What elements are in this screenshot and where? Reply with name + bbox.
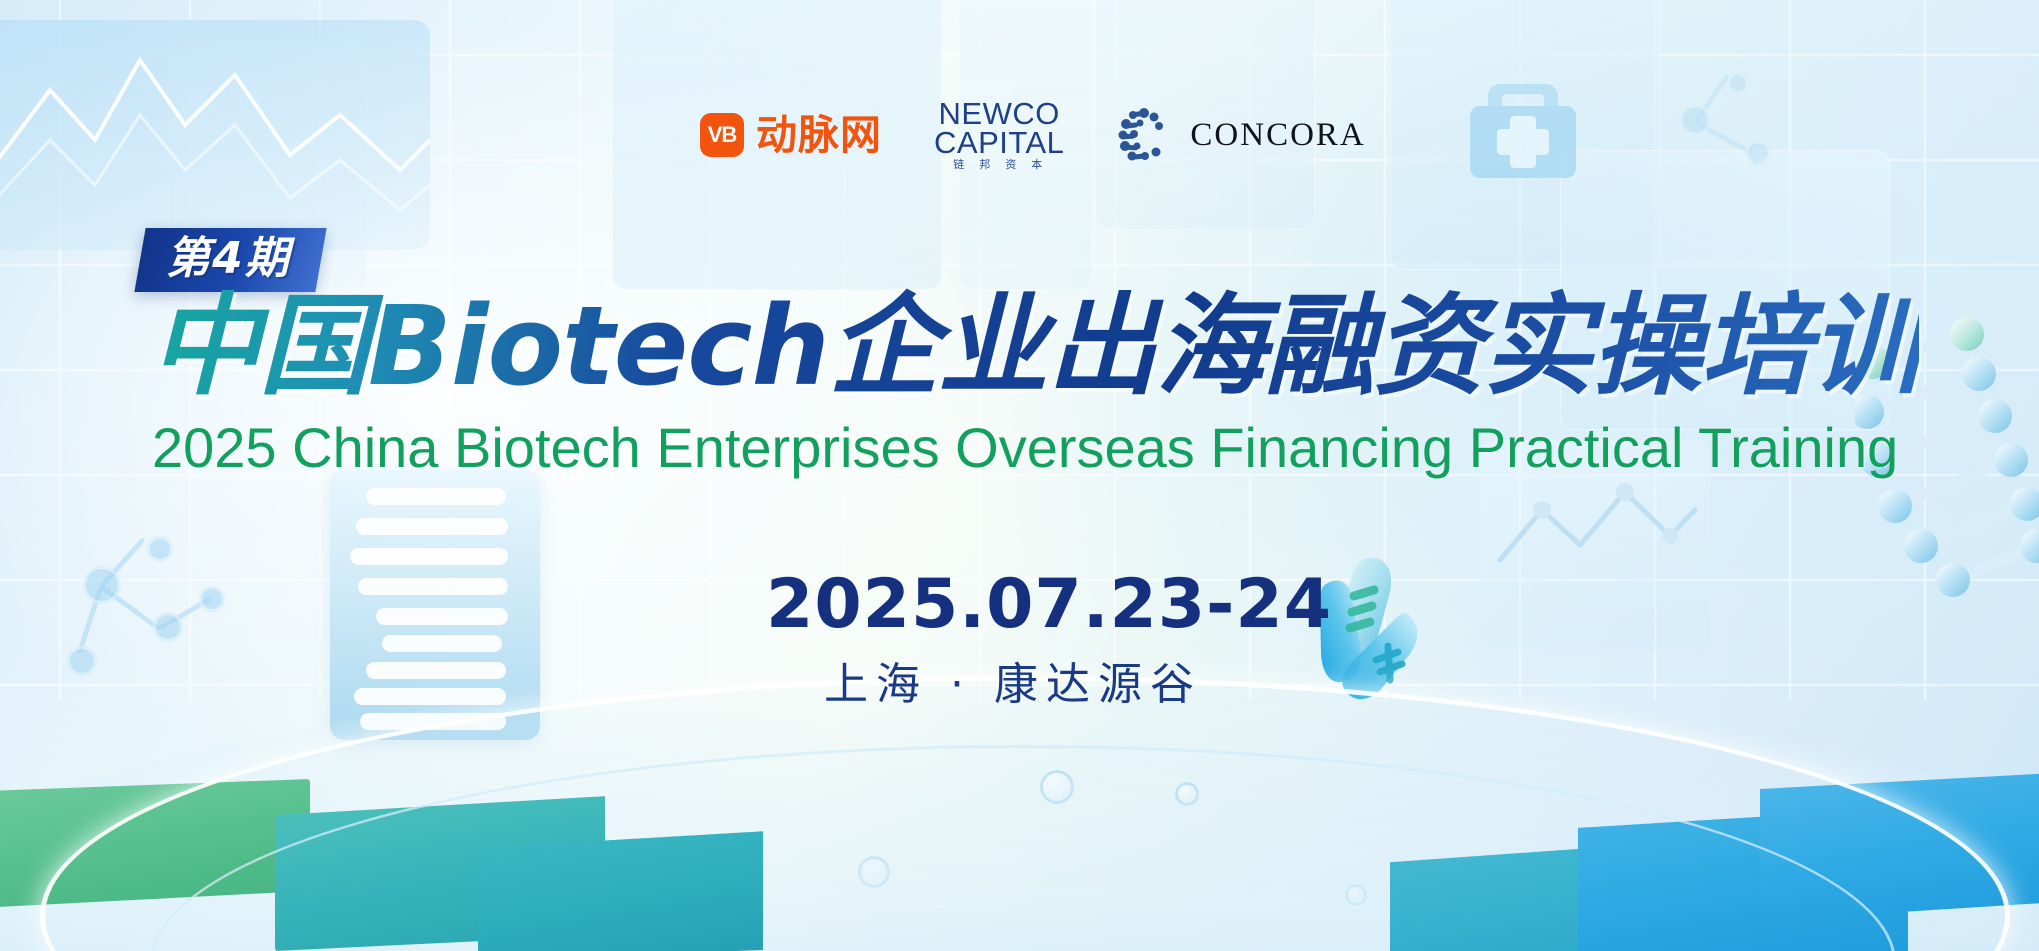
logo-vb-dongmaiwang[interactable]: VB 动脉网 xyxy=(700,113,882,157)
molecule-icon xyxy=(1655,80,1805,220)
newco-line2: CAPITAL xyxy=(934,129,1064,158)
page-subtitle: 2025 China Biotech Enterprises Overseas … xyxy=(152,415,1898,480)
glass-panel xyxy=(1390,0,1660,270)
logo-newco-capital[interactable]: NEWCO CAPITAL 链 邦 资 本 xyxy=(934,100,1064,170)
concora-mark-icon xyxy=(1116,106,1174,164)
line-chart-icon xyxy=(0,20,430,250)
page-title: 中国Biotech企业出海融资实操培训 xyxy=(150,288,1919,405)
logo-concora-label: CONCORA xyxy=(1190,117,1365,154)
newco-cn-3: 资 xyxy=(1005,160,1019,170)
line-chart-card xyxy=(0,20,430,250)
event-venue: 上海 · 康达源谷 xyxy=(824,648,1202,712)
edition-badge-label: 第4期 xyxy=(166,237,291,281)
vb-mark-icon: VB xyxy=(700,113,744,157)
newco-cn-1: 链 xyxy=(953,160,967,170)
partner-logos: VB 动脉网 NEWCO CAPITAL 链 邦 资 本 xyxy=(700,100,1366,170)
newco-chinese-label: 链 邦 资 本 xyxy=(953,160,1045,170)
logo-concora[interactable]: CONCORA xyxy=(1116,106,1365,164)
event-banner: VB 动脉网 NEWCO CAPITAL 链 邦 资 本 xyxy=(0,0,2039,951)
newco-cn-2: 邦 xyxy=(979,160,993,170)
event-date: 2025.07.23-24 xyxy=(766,565,1332,644)
newco-cn-4: 本 xyxy=(1031,160,1045,170)
logo-vb-label: 动脉网 xyxy=(756,115,882,156)
medical-kit-icon xyxy=(1448,58,1598,186)
